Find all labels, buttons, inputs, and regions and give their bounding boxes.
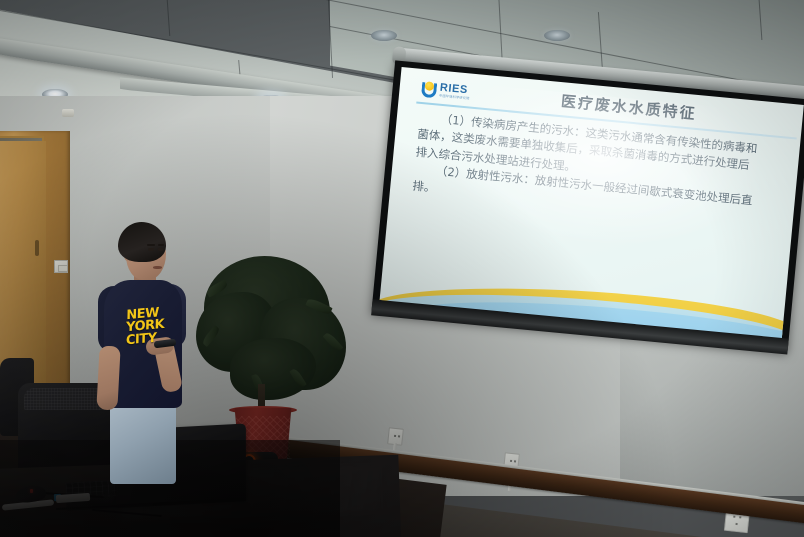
hair [118,222,166,262]
jeans [110,400,176,484]
eyebrow [158,244,164,246]
slide-logo-subtitle: 中国环境科学研究院 [439,95,470,101]
plant-foliage [230,338,316,400]
presentation-slide: RIES 中国环境科学研究院 医疗废水水质特征 （1）传染病房产生的污水：这类污… [379,67,803,340]
mouth [153,266,162,269]
conference-room-photo: RIES 中国环境科学研究院 医疗废水水质特征 （1）传染病房产生的污水：这类污… [0,0,804,537]
eyebrow [147,244,155,246]
slide-logo: RIES 中国环境科学研究院 [421,81,471,101]
recessed-downlight [371,30,397,41]
eye [148,248,154,251]
ries-logo-icon [421,81,437,98]
light-switch[interactable] [54,260,68,273]
eye [158,248,163,251]
recessed-downlight [544,30,570,41]
ceiling-sensor-icon [62,109,74,117]
left-arm [96,345,120,410]
mouse-led-icon [30,489,33,493]
projector-screen: RIES 中国环境科学研究院 医疗废水水质特征 （1）传染病房产生的污水：这类污… [377,63,802,362]
door-handle[interactable] [35,240,39,256]
